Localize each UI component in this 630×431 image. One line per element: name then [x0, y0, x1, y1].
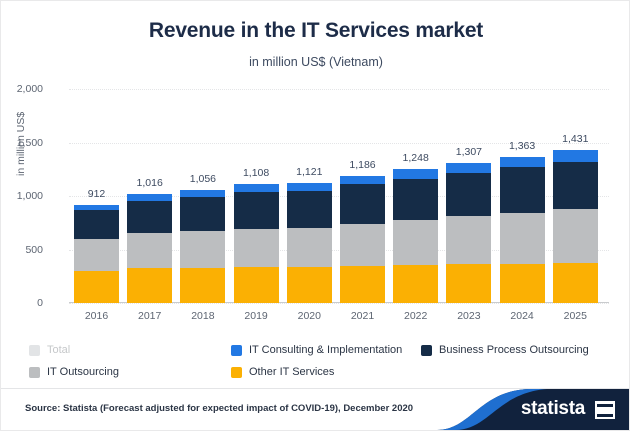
bar-segment[interactable] [446, 264, 491, 303]
bar-segment[interactable] [234, 192, 279, 229]
bar-segment[interactable] [287, 191, 332, 228]
statista-logo: statista [401, 389, 630, 430]
bar-value-label: 1,431 [547, 133, 604, 145]
legend-label: IT Outsourcing [47, 366, 119, 378]
legend-item[interactable]: IT Consulting & Implementation [231, 344, 402, 356]
bar-value-label: 1,186 [334, 159, 391, 171]
page-title: Revenue in the IT Services market [1, 19, 630, 43]
bar-segment[interactable] [74, 271, 119, 303]
x-axis-tick-label: 2023 [440, 310, 497, 322]
bar-value-label: 1,056 [174, 173, 231, 185]
bar-column[interactable]: 1,0162017 [127, 89, 172, 303]
bar-segment[interactable] [553, 162, 598, 209]
bar-segment[interactable] [127, 194, 172, 201]
legend-label: Business Process Outsourcing [439, 344, 589, 356]
bar-segment[interactable] [287, 228, 332, 267]
y-axis-tick-label: 2,000 [0, 83, 43, 95]
x-axis-tick-label: 2025 [547, 310, 604, 322]
legend-item[interactable]: Other IT Services [231, 366, 334, 378]
bar-segment[interactable] [500, 213, 545, 264]
y-axis-tick-label: 1,500 [0, 137, 43, 149]
bar-segment[interactable] [500, 157, 545, 167]
bar-column[interactable]: 1,1862021 [340, 89, 385, 303]
bar-segment[interactable] [287, 267, 332, 303]
bar-value-label: 1,108 [228, 167, 285, 179]
legend-label: IT Consulting & Implementation [249, 344, 402, 356]
bar-segment[interactable] [127, 201, 172, 233]
bar-column[interactable]: 1,1082019 [234, 89, 279, 303]
bar-segment[interactable] [393, 179, 438, 220]
bar-segment[interactable] [446, 173, 491, 216]
bar-value-label: 1,248 [387, 152, 444, 164]
x-axis-tick-label: 2019 [228, 310, 285, 322]
y-axis-tick-label: 500 [0, 244, 43, 256]
legend-item[interactable]: Total [29, 344, 70, 356]
plot-area: 05001,0001,5002,000 91220161,01620171,05… [69, 89, 609, 303]
legend-swatch-icon [29, 367, 40, 378]
bar-segment[interactable] [446, 163, 491, 173]
bar-column[interactable]: 1,3632024 [500, 89, 545, 303]
bar-segment[interactable] [180, 197, 225, 231]
bar-segment[interactable] [74, 210, 119, 238]
y-axis-tick-label: 0 [0, 297, 43, 309]
legend-label: Total [47, 344, 70, 356]
bar-value-label: 1,016 [121, 177, 178, 189]
bar-segment[interactable] [553, 263, 598, 303]
bar-segment[interactable] [74, 205, 119, 210]
x-axis-tick-label: 2020 [281, 310, 338, 322]
bar-series: 91220161,01620171,05620181,10820191,1212… [69, 89, 609, 303]
y-axis-tick-label: 1,000 [0, 190, 43, 202]
bar-segment[interactable] [446, 216, 491, 264]
legend-label: Other IT Services [249, 366, 334, 378]
statista-mark-icon [595, 401, 615, 419]
bar-column[interactable]: 1,1212020 [287, 89, 332, 303]
bar-segment[interactable] [127, 233, 172, 268]
bar-segment[interactable] [393, 220, 438, 265]
legend-item[interactable]: IT Outsourcing [29, 366, 119, 378]
x-axis-tick-label: 2016 [68, 310, 125, 322]
bar-column[interactable]: 1,0562018 [180, 89, 225, 303]
x-axis-tick-label: 2018 [174, 310, 231, 322]
bar-segment[interactable] [500, 167, 545, 212]
bar-value-label: 1,121 [281, 166, 338, 178]
bar-segment[interactable] [180, 268, 225, 303]
bar-column[interactable]: 1,4312025 [553, 89, 598, 303]
bar-segment[interactable] [553, 209, 598, 264]
bar-segment[interactable] [74, 239, 119, 271]
x-axis-tick-label: 2021 [334, 310, 391, 322]
bar-segment[interactable] [234, 267, 279, 303]
source-note: Source: Statista (Forecast adjusted for … [25, 403, 413, 414]
bar-value-label: 912 [68, 188, 125, 200]
chart-card: Revenue in the IT Services market in mil… [0, 0, 630, 431]
bar-segment[interactable] [393, 169, 438, 178]
x-axis-tick-label: 2024 [494, 310, 551, 322]
bar-segment[interactable] [127, 268, 172, 303]
bar-segment[interactable] [234, 184, 279, 191]
bar-column[interactable]: 9122016 [74, 89, 119, 303]
bar-segment[interactable] [287, 183, 332, 191]
bar-value-label: 1,363 [494, 140, 551, 152]
legend-swatch-icon [29, 345, 40, 356]
legend-swatch-icon [421, 345, 432, 356]
bar-column[interactable]: 1,2482022 [393, 89, 438, 303]
bar-segment[interactable] [234, 229, 279, 267]
x-axis-tick-label: 2017 [121, 310, 178, 322]
bar-segment[interactable] [393, 265, 438, 303]
gridline [69, 303, 609, 305]
bar-segment[interactable] [180, 231, 225, 267]
footer: Source: Statista (Forecast adjusted for … [1, 388, 630, 430]
legend-item[interactable]: Business Process Outsourcing [421, 344, 589, 356]
bar-segment[interactable] [340, 176, 385, 184]
bar-segment[interactable] [340, 224, 385, 266]
bar-segment[interactable] [340, 184, 385, 224]
x-axis-tick-label: 2022 [387, 310, 444, 322]
bar-column[interactable]: 1,3072023 [446, 89, 491, 303]
bar-segment[interactable] [500, 264, 545, 303]
bar-segment[interactable] [180, 190, 225, 197]
bar-segment[interactable] [553, 150, 598, 162]
legend-swatch-icon [231, 367, 242, 378]
legend-swatch-icon [231, 345, 242, 356]
bar-value-label: 1,307 [440, 146, 497, 158]
chart-subtitle: in million US$ (Vietnam) [1, 55, 630, 69]
bar-segment[interactable] [340, 266, 385, 303]
chart-legend: TotalIT OutsourcingIT Consulting & Imple… [29, 341, 609, 385]
statista-wordmark: statista [521, 398, 585, 420]
